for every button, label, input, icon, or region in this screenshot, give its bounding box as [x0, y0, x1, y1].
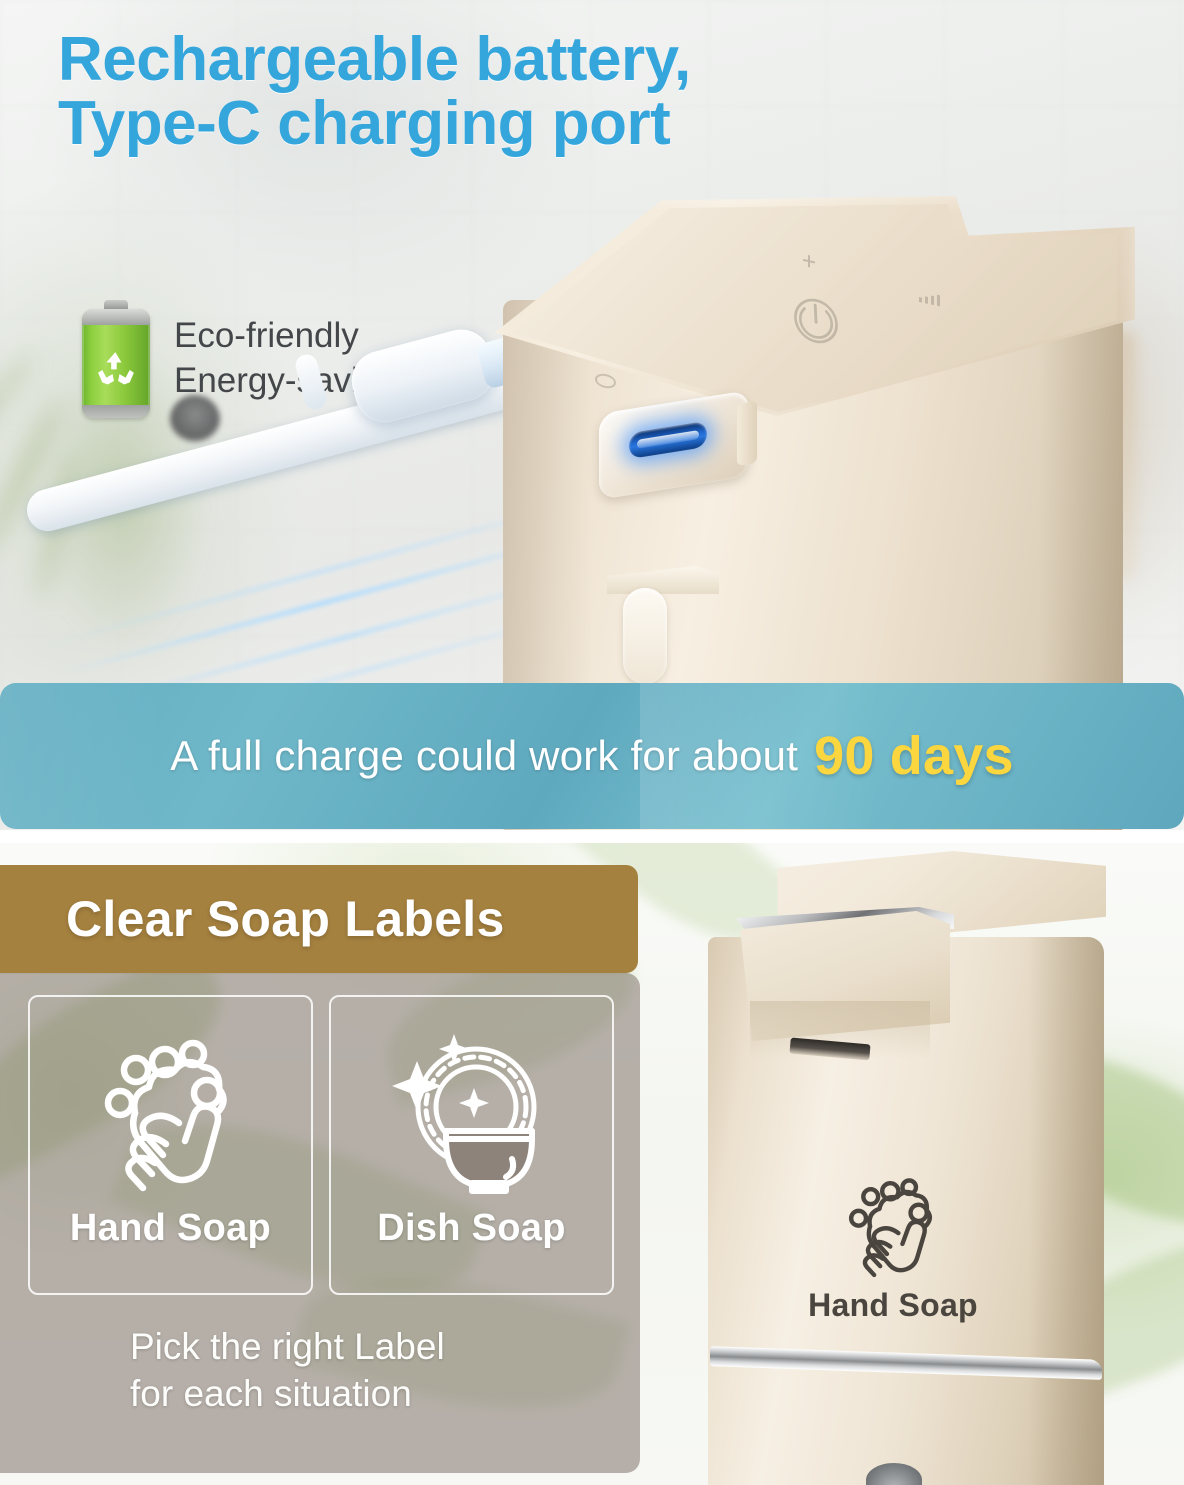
headline-line-1: Rechargeable battery, [58, 28, 938, 92]
dispenser-top-lid [495, 196, 1135, 436]
nozzle-plate [607, 566, 719, 594]
hand-wash-bubbles-icon [83, 1023, 259, 1203]
pick-line-2: for each situation [130, 1370, 445, 1417]
printed-label-text: Hand Soap [778, 1287, 1008, 1324]
page-title: Rechargeable battery, Type-C charging po… [58, 28, 938, 157]
printed-hand-soap-label: Hand Soap [778, 1171, 1008, 1324]
banner-text: A full charge could work for about 90 da… [0, 683, 1184, 829]
dish-plate-bowl-sparkle-icon [384, 1023, 560, 1203]
top-panel: Rechargeable battery, Type-C charging po… [0, 0, 1184, 830]
usb-c-port-tab [737, 401, 757, 466]
section-title-bar: Clear Soap Labels [0, 865, 638, 973]
soap-label-card-dish[interactable]: Dish Soap [329, 995, 614, 1295]
cable-ring [293, 352, 329, 412]
bottom-panel: Clear Soap Labels [0, 843, 1184, 1485]
dispenser-nozzle-bracket [607, 566, 719, 684]
banner-highlight: 90 days [814, 725, 1014, 787]
pick-line-1: Pick the right Label [130, 1323, 445, 1370]
usb-c-port-opening [629, 421, 707, 459]
soap-label-card-hand[interactable]: Hand Soap [28, 995, 313, 1295]
soap-label-caption: Hand Soap [70, 1207, 271, 1250]
soap-label-caption: Dish Soap [377, 1207, 566, 1250]
soap-dispenser-product-labeled: Hand Soap [690, 851, 1110, 1485]
soap-label-caption-text: Pick the right Label for each situation [130, 1323, 445, 1418]
indicator-dot-icon [595, 372, 616, 390]
banner-prefix: A full charge could work for about [170, 732, 798, 780]
nozzle-slot [623, 588, 667, 684]
battery-life-banner: A full charge could work for about 90 da… [0, 683, 1184, 829]
power-touch-icon[interactable] [786, 288, 847, 355]
soap-label-card-list: Hand Soap [28, 995, 614, 1295]
product-feature-image: Rechargeable battery, Type-C charging po… [0, 0, 1184, 1485]
headline-line-2: Type-C charging port [58, 92, 938, 156]
hand-wash-bubbles-icon [833, 1171, 953, 1279]
section-title: Clear Soap Labels [66, 890, 505, 948]
